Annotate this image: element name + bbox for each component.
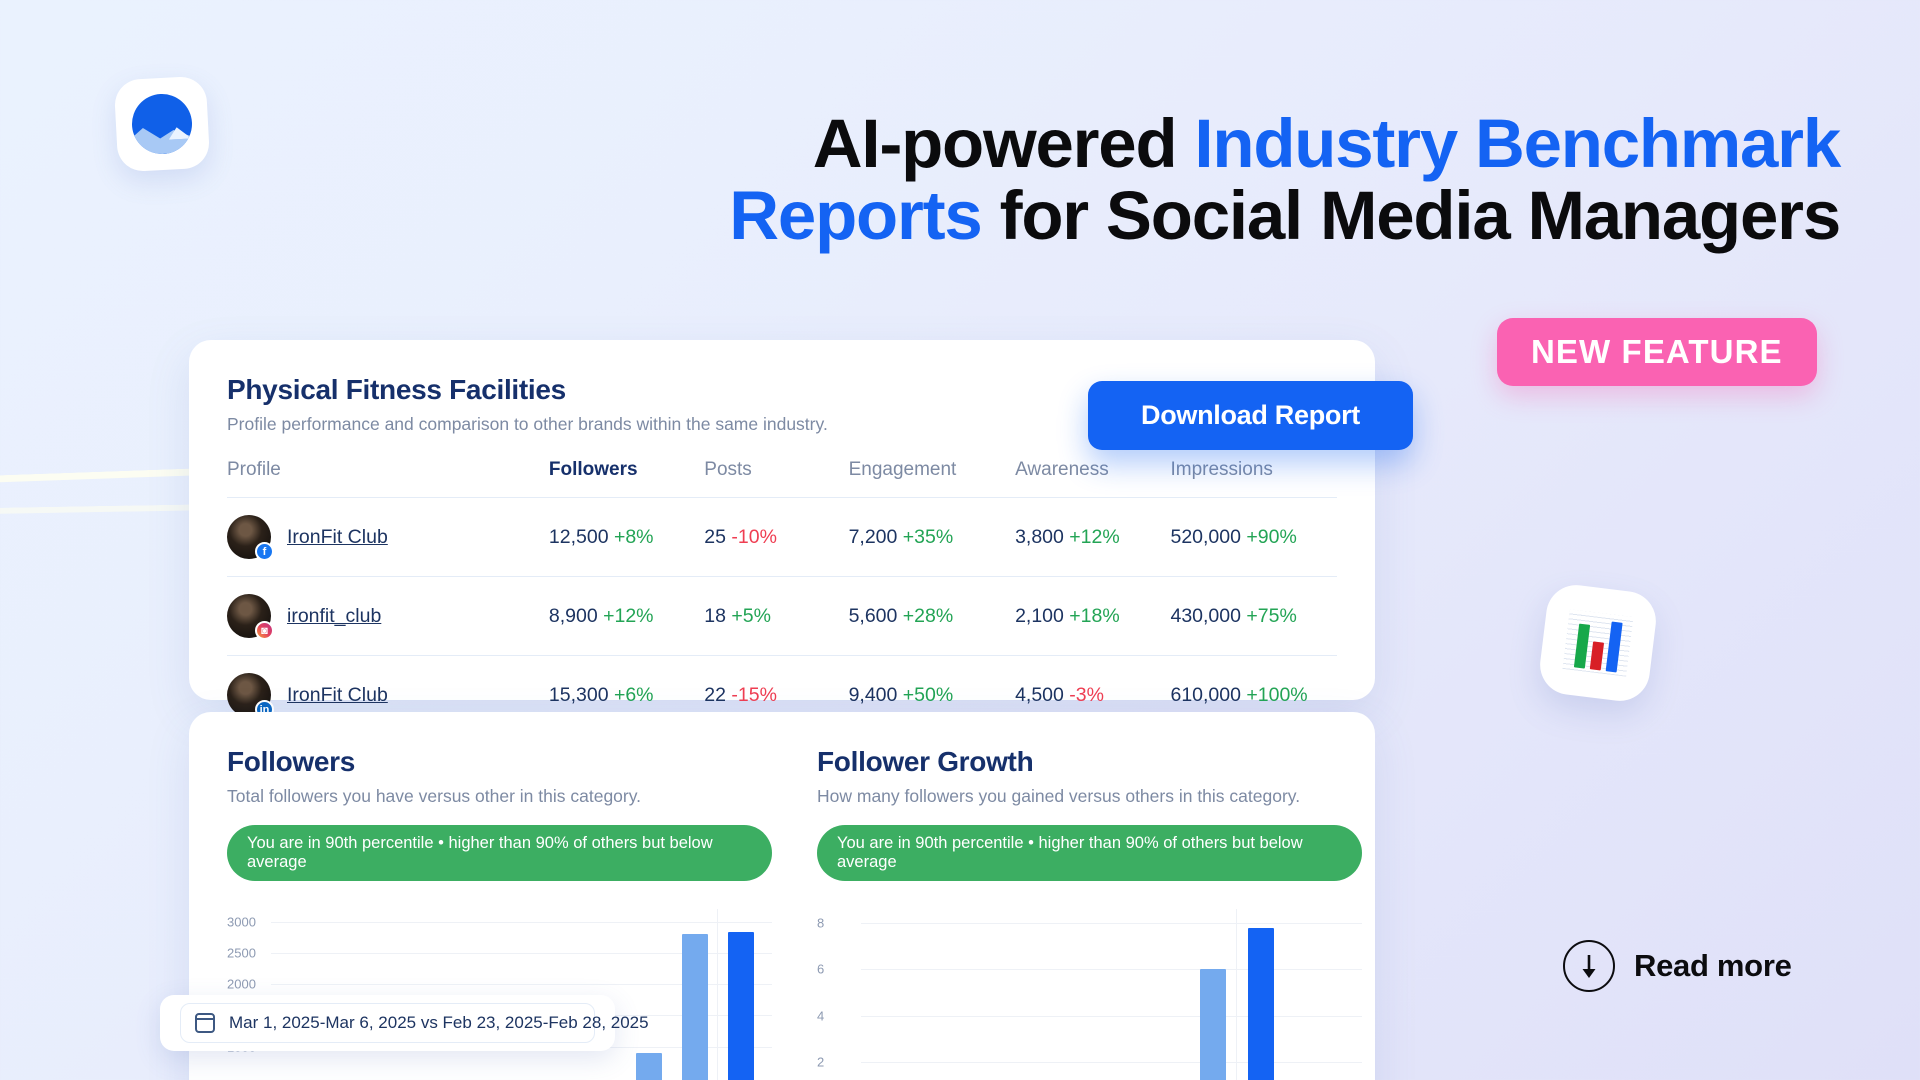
- headline-line1-accent: Industry Benchmark: [1194, 105, 1840, 182]
- y-axis-tick-label: 4: [817, 1008, 824, 1023]
- column-header-posts: Posts: [704, 459, 848, 498]
- cell-followers-delta: +12%: [603, 605, 653, 627]
- chart-icon-bar-blue: [1605, 621, 1622, 672]
- follower-growth-percentile-badge: You are in 90th percentile • higher than…: [817, 825, 1362, 881]
- chart-icon-bar-red: [1589, 641, 1603, 670]
- follower-growth-bar-chart: 8642: [817, 909, 1362, 1080]
- avatar: f: [227, 515, 271, 559]
- download-report-button[interactable]: Download Report: [1088, 381, 1413, 450]
- column-header-followers: Followers: [549, 459, 704, 498]
- followers-chart-title: Followers: [227, 746, 772, 778]
- y-axis-tick-label: 2500: [227, 945, 256, 960]
- chart-bar: [1200, 969, 1226, 1080]
- app-logo-icon: [114, 76, 211, 173]
- cell-followers-delta: +6%: [614, 684, 654, 706]
- logo-disc: [130, 92, 193, 155]
- cell-engagement: 5,600 +28%: [849, 577, 1016, 656]
- cell-followers-delta: +8%: [614, 526, 654, 548]
- cell-posts: 25 -10%: [704, 498, 848, 577]
- profile-link[interactable]: ironfit_club: [287, 605, 381, 628]
- page-title: AI-powered Industry Benchmark Reports fo…: [480, 108, 1840, 252]
- benchmark-table: Profile Followers Posts Engagement Aware…: [227, 459, 1337, 735]
- chart-bar: [1248, 928, 1274, 1080]
- read-more-button[interactable]: Read more: [1563, 940, 1792, 992]
- chart-icon-paper: [1563, 609, 1634, 676]
- followers-percentile-badge: You are in 90th percentile • higher than…: [227, 825, 772, 881]
- headline-line1-plain: AI-powered: [813, 105, 1195, 182]
- y-axis-tick-label: 8: [817, 915, 824, 930]
- cell-impressions-delta: +100%: [1246, 684, 1307, 706]
- cell-profile: f IronFit Club: [227, 498, 549, 577]
- axis-divider: [1236, 909, 1237, 1080]
- column-header-impressions: Impressions: [1170, 459, 1337, 498]
- cell-posts-delta: -15%: [731, 684, 777, 706]
- profile-link[interactable]: IronFit Club: [287, 684, 388, 707]
- chart-bar: [682, 934, 708, 1080]
- chart-icon-bar-green: [1573, 624, 1589, 669]
- follower-growth-chart-section: Follower Growth How many followers you g…: [817, 746, 1362, 1080]
- profile-link[interactable]: IronFit Club: [287, 526, 388, 549]
- table-row: ◙ ironfit_club8,900 +12%18 +5%5,600 +28%…: [227, 577, 1337, 656]
- cell-awareness-delta: +12%: [1069, 526, 1119, 548]
- cell-impressions-delta: +90%: [1246, 526, 1296, 548]
- new-feature-badge: NEW FEATURE: [1497, 318, 1817, 386]
- headline-line2-accent: Reports: [729, 177, 981, 254]
- column-header-engagement: Engagement: [849, 459, 1016, 498]
- avatar: in: [227, 673, 271, 717]
- table-header-row: Profile Followers Posts Engagement Aware…: [227, 459, 1337, 498]
- cell-followers: 8,900 +12%: [549, 577, 704, 656]
- cell-engagement: 7,200 +35%: [849, 498, 1016, 577]
- cell-engagement-delta: +28%: [903, 605, 953, 627]
- arrow-down-circle-icon: [1563, 940, 1615, 992]
- date-range-value: Mar 1, 2025-Mar 6, 2025 vs Feb 23, 2025-…: [229, 1013, 649, 1033]
- follower-growth-chart-subtitle: How many followers you gained versus oth…: [817, 786, 1362, 807]
- cell-impressions: 430,000 +75%: [1170, 577, 1337, 656]
- avatar: ◙: [227, 594, 271, 638]
- cell-posts-delta: +5%: [731, 605, 771, 627]
- cell-awareness: 3,800 +12%: [1015, 498, 1170, 577]
- column-header-profile: Profile: [227, 459, 549, 498]
- cell-impressions: 520,000 +90%: [1170, 498, 1337, 577]
- table-row: f IronFit Club12,500 +8%25 -10%7,200 +35…: [227, 498, 1337, 577]
- chart-bar: [728, 932, 754, 1080]
- followers-chart-subtitle: Total followers you have versus other in…: [227, 786, 772, 807]
- y-axis-tick-label: 2: [817, 1055, 824, 1070]
- cell-posts-delta: -10%: [731, 526, 777, 548]
- cell-followers: 12,500 +8%: [549, 498, 704, 577]
- cell-awareness-delta: +18%: [1069, 605, 1119, 627]
- cell-posts: 18 +5%: [704, 577, 848, 656]
- date-range-picker-inner[interactable]: Mar 1, 2025-Mar 6, 2025 vs Feb 23, 2025-…: [180, 1003, 595, 1043]
- read-more-label: Read more: [1634, 948, 1792, 984]
- column-header-awareness: Awareness: [1015, 459, 1170, 498]
- y-axis-tick-label: 2000: [227, 977, 256, 992]
- cell-profile: ◙ ironfit_club: [227, 577, 549, 656]
- facebook-icon: f: [255, 542, 274, 561]
- instagram-icon: ◙: [255, 621, 274, 640]
- y-axis-tick-label: 6: [817, 962, 824, 977]
- y-axis-tick-label: 3000: [227, 914, 256, 929]
- calendar-icon: [195, 1013, 215, 1033]
- cell-awareness: 2,100 +18%: [1015, 577, 1170, 656]
- follower-growth-chart-title: Follower Growth: [817, 746, 1362, 778]
- cell-awareness-delta: -3%: [1069, 684, 1104, 706]
- date-range-picker[interactable]: Mar 1, 2025-Mar 6, 2025 vs Feb 23, 2025-…: [160, 995, 615, 1051]
- cell-engagement-delta: +35%: [903, 526, 953, 548]
- axis-divider: [717, 909, 718, 1080]
- chart-bar: [636, 1053, 662, 1080]
- headline-line2-plain: for Social Media Managers: [982, 177, 1840, 254]
- bars-group: [861, 909, 1362, 1080]
- bar-chart-document-icon: [1537, 582, 1660, 705]
- cell-engagement-delta: +50%: [903, 684, 953, 706]
- cell-impressions-delta: +75%: [1246, 605, 1296, 627]
